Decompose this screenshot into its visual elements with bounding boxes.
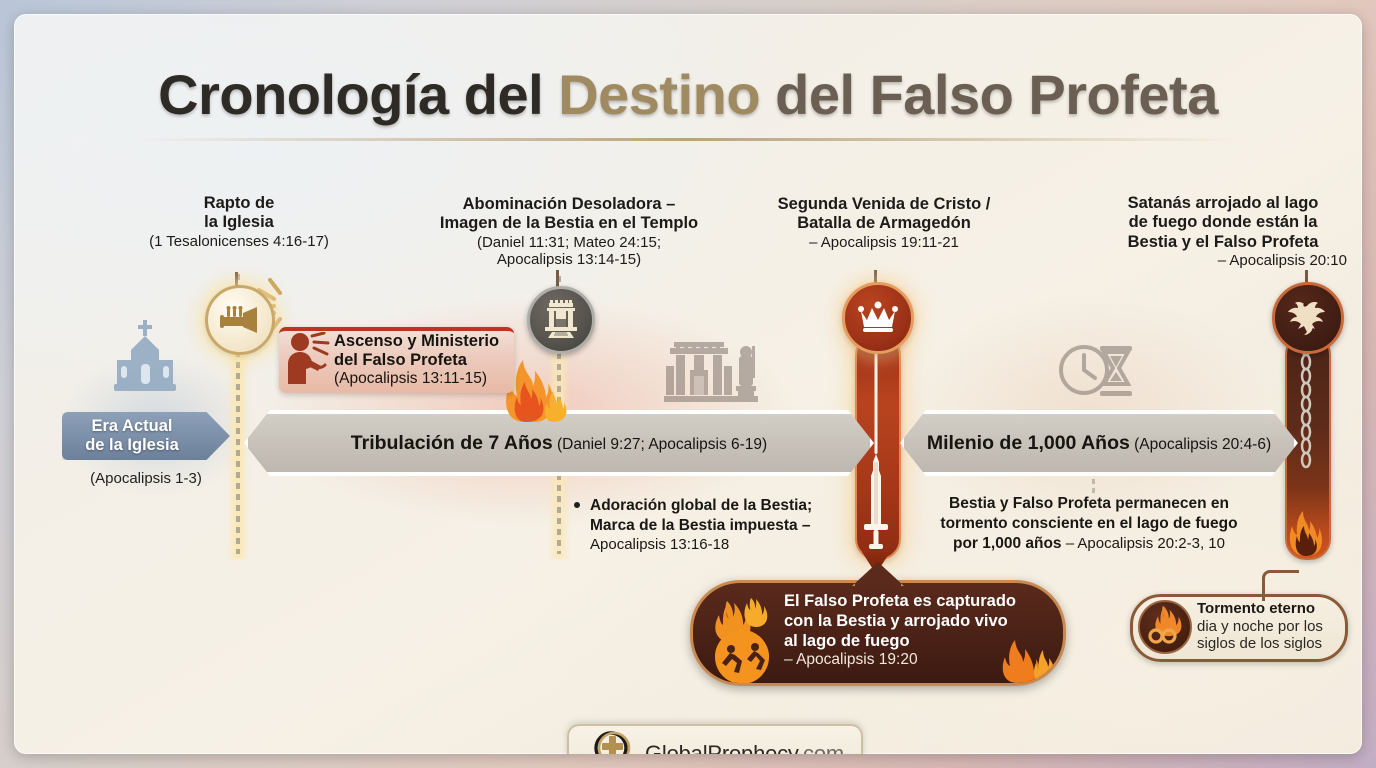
- brand-name-text: GlobalProphecy: [645, 741, 797, 754]
- millennium-note-line2: tormento consciente en el lago de fuego: [940, 515, 1237, 532]
- era-badge[interactable]: Era Actual de la Iglesia: [62, 412, 230, 460]
- banner-heading-line1: Ascenso y Ministerio: [334, 332, 524, 351]
- callout-pointer: [852, 562, 904, 586]
- event-heading: Rapto de: [134, 194, 344, 213]
- millennium-note-line3: por 1,000 años: [953, 535, 1062, 552]
- event-heading: Satanás arrojado al lago: [1099, 194, 1347, 213]
- event-reference: – Apocalipsis 20:10: [1099, 252, 1347, 270]
- trumpet-icon: [205, 285, 275, 355]
- era-badge-label: Era Actual de la Iglesia: [85, 417, 207, 455]
- period-reference: (Apocalipsis 20:4-6): [1130, 436, 1271, 453]
- period-bar-millennium[interactable]: Milenio de 1,000 Años (Apocalipsis 20:4-…: [900, 410, 1298, 476]
- temple-with-idol-icon: [664, 340, 760, 411]
- bullet-heading-line1: Adoración global de la Bestia;: [590, 497, 812, 514]
- infographic-canvas: Cronología del Destino del Falso Profeta…: [14, 14, 1362, 754]
- millennium-note-line1: Bestia y Falso Profeta permanecen en: [949, 495, 1229, 512]
- event-label-second-coming: Segunda Venida de Cristo / Batalla de Ar…: [744, 195, 1024, 251]
- era-label-line1: Era Actual: [91, 417, 186, 435]
- callout-heading-line2: con la Bestia y arrojado vivo: [784, 612, 1054, 632]
- callout-heading-line1: El Falso Profeta es capturado: [784, 592, 1054, 612]
- period-bar-text: Tribulación de 7 Años (Daniel 9:27; Apoc…: [351, 432, 767, 455]
- pill-line3: siglos de los siglos: [1197, 635, 1339, 653]
- title-part-3: del Falso Profeta: [775, 63, 1218, 126]
- event-heading: de fuego donde están la: [1099, 213, 1347, 232]
- false-prophet-rise-text: Ascenso y Ministerio del Falso Profeta (…: [334, 332, 524, 388]
- event-heading: Batalla de Armagedón: [744, 214, 1024, 233]
- era-label-line2: de la Iglesia: [85, 436, 193, 454]
- period-label: Milenio de 1,000 Años: [927, 432, 1130, 454]
- event-heading: Abominación Desoladora –: [404, 195, 734, 214]
- brand-name: GlobalProphecy.com: [645, 741, 844, 754]
- title-part-2: Destino: [558, 63, 775, 126]
- eternal-torment-text: Tormento eterno dia y noche por los sigl…: [1197, 600, 1339, 653]
- clock-hourglass-icon: [1058, 340, 1134, 407]
- event-reference: (Daniel 11:31; Mateo 24:15;: [404, 234, 734, 252]
- page-title: Cronología del Destino del Falso Profeta: [14, 62, 1362, 127]
- event-heading: Imagen de la Bestia en el Templo: [404, 214, 734, 233]
- banner-heading-line2: del Falso Profeta: [334, 351, 524, 370]
- crown-icon: [842, 282, 914, 354]
- infinity-flame-icon: [1138, 600, 1192, 654]
- list-item: Adoración global de la Bestia; Marca de …: [574, 496, 864, 554]
- period-bar-text: Milenio de 1,000 Años (Apocalipsis 20:4-…: [927, 432, 1271, 455]
- pill-line2: dia y noche por los: [1197, 618, 1339, 636]
- speaking-figure-icon: [284, 332, 334, 391]
- callout-heading-line3: al lago de fuego: [784, 632, 1054, 652]
- title-part-1: Cronología del: [158, 63, 558, 126]
- title-divider: [132, 138, 1244, 141]
- church-icon: [114, 320, 176, 405]
- millennium-note: Bestia y Falso Profeta permanecen en tor…: [919, 494, 1259, 554]
- globe-cross-bible-icon: [589, 730, 635, 755]
- footer-logo-bar[interactable]: GlobalProphecy.com: [567, 724, 863, 754]
- eternal-pill-connector: [1262, 570, 1299, 601]
- millennium-note-reference: – Apocalipsis 20:2-3, 10: [1062, 535, 1225, 552]
- callout-reference: – Apocalipsis 19:20: [784, 651, 1054, 670]
- banner-reference: (Apocalipsis 13:11-15): [334, 370, 524, 388]
- event-heading: Bestia y el Falso Profeta: [1099, 233, 1347, 252]
- dragon-icon: [1272, 282, 1344, 354]
- era-badge-reference: (Apocalipsis 1-3): [62, 470, 230, 487]
- event-label-rapture: Rapto de la Iglesia (1 Tesalonicenses 4:…: [134, 194, 344, 250]
- event-reference: (1 Tesalonicenses 4:16-17): [134, 233, 344, 251]
- bullet-reference: Apocalipsis 13:16-18: [590, 536, 729, 553]
- event-label-satan-lake-of-fire: Satanás arrojado al lago de fuego donde …: [1099, 194, 1347, 269]
- bullet-heading-line2: Marca de la Bestia impuesta –: [590, 517, 811, 534]
- period-label: Tribulación de 7 Años: [351, 432, 553, 454]
- pill-heading: Tormento eterno: [1197, 600, 1339, 618]
- event-reference: Apocalipsis 13:14-15): [404, 251, 734, 269]
- event-heading: Segunda Venida de Cristo /: [744, 195, 1024, 214]
- false-prophet-captured-text: El Falso Profeta es capturado con la Bes…: [784, 592, 1054, 670]
- brand-tld-text: .com: [797, 741, 844, 754]
- event-heading: la Iglesia: [134, 213, 344, 232]
- event-reference: – Apocalipsis 19:11-21: [744, 234, 1024, 252]
- period-reference: (Daniel 9:27; Apocalipsis 6-19): [553, 436, 768, 453]
- event-label-abomination: Abominación Desoladora – Imagen de la Be…: [404, 195, 734, 269]
- bullet-dot-icon: [574, 502, 580, 508]
- tribulation-bullet-list: Adoración global de la Bestia; Marca de …: [574, 496, 864, 554]
